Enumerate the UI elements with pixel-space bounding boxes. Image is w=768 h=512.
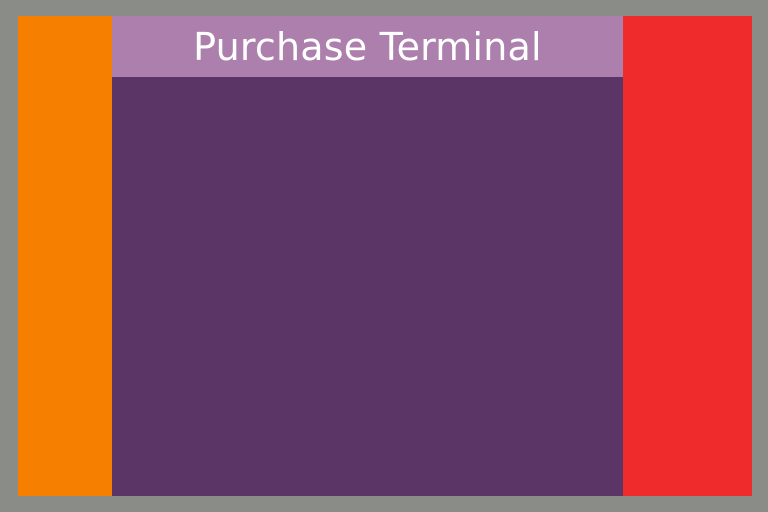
page-title: Purchase Terminal xyxy=(193,28,542,66)
purchase-terminal-body[interactable] xyxy=(112,77,623,496)
purchase-terminal-card: Purchase Terminal xyxy=(112,16,623,496)
purchase-terminal-header: Purchase Terminal xyxy=(112,16,623,77)
app-root: Purchase Terminal xyxy=(0,0,768,512)
left-orange-rail[interactable] xyxy=(18,16,112,496)
right-red-rail[interactable] xyxy=(623,16,752,496)
